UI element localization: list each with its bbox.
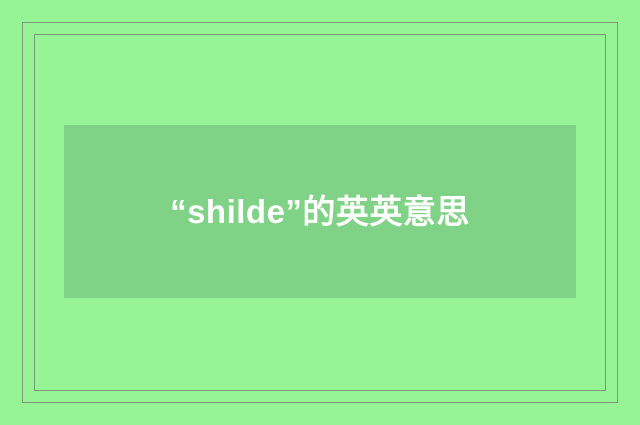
title-plate: “shilde”的英英意思 [64,125,576,298]
page-canvas: “shilde”的英英意思 [0,0,640,425]
page-title: “shilde”的英英意思 [160,183,480,241]
